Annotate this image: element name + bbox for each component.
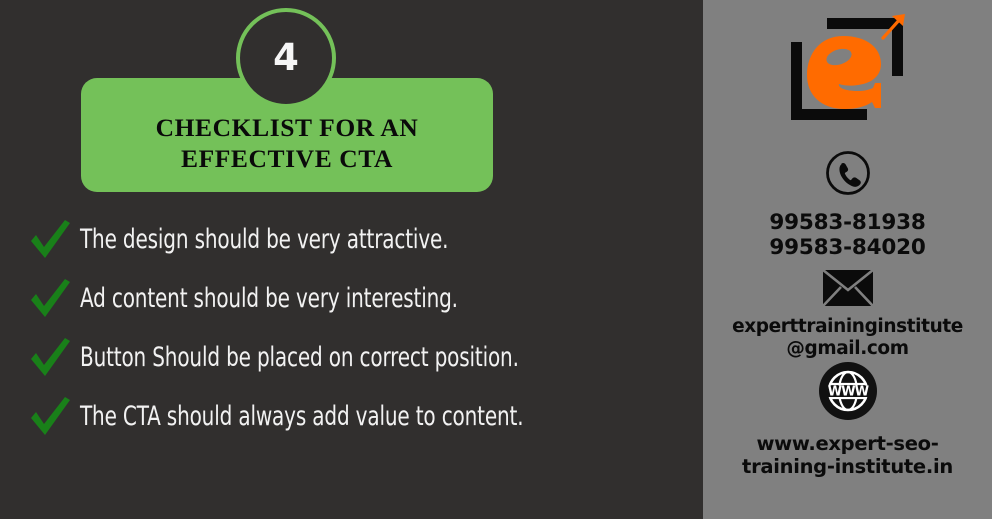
email-address: experttraininginstitute @gmail.com xyxy=(732,316,963,360)
growth-arrow-icon xyxy=(877,10,909,42)
envelope-icon xyxy=(822,269,874,312)
check-mark-icon xyxy=(18,394,80,440)
check-mark-icon xyxy=(18,217,80,263)
main-content-panel: CHECKLIST FOR AN EFFECTIVE CTA 4 The des… xyxy=(0,0,703,519)
list-item: Button Should be placed on correct posit… xyxy=(18,328,678,387)
check-mark-icon xyxy=(18,335,80,381)
letter-e-icon xyxy=(805,34,889,110)
website-url: www.expert-seo- training-institute.in xyxy=(742,432,953,478)
phone-numbers: 99583-81938 99583-84020 xyxy=(769,210,925,261)
globe-www-icon: WWW xyxy=(818,361,878,426)
list-item-label: Button Should be placed on correct posit… xyxy=(80,342,519,373)
expert-e-logo-icon xyxy=(787,10,909,130)
title-block: CHECKLIST FOR AN EFFECTIVE CTA 4 xyxy=(81,8,493,185)
phone-icon xyxy=(825,150,871,201)
checklist: The design should be very attractive. Ad… xyxy=(18,210,678,446)
step-badge: 4 xyxy=(236,8,336,108)
list-item: The CTA should always add value to conte… xyxy=(18,387,678,446)
list-item-label: Ad content should be very interesting. xyxy=(80,283,458,314)
list-item: Ad content should be very interesting. xyxy=(18,269,678,328)
check-mark-icon xyxy=(18,276,80,322)
page-title: CHECKLIST FOR AN EFFECTIVE CTA xyxy=(156,112,419,174)
contact-sidebar: 99583-81938 99583-84020 experttrainingin… xyxy=(703,0,992,519)
list-item-label: The CTA should always add value to conte… xyxy=(80,401,523,432)
svg-text:WWW: WWW xyxy=(827,385,868,400)
list-item: The design should be very attractive. xyxy=(18,210,678,269)
infographic-poster: CHECKLIST FOR AN EFFECTIVE CTA 4 The des… xyxy=(0,0,992,519)
step-number: 4 xyxy=(273,39,299,76)
list-item-label: The design should be very attractive. xyxy=(80,224,448,255)
